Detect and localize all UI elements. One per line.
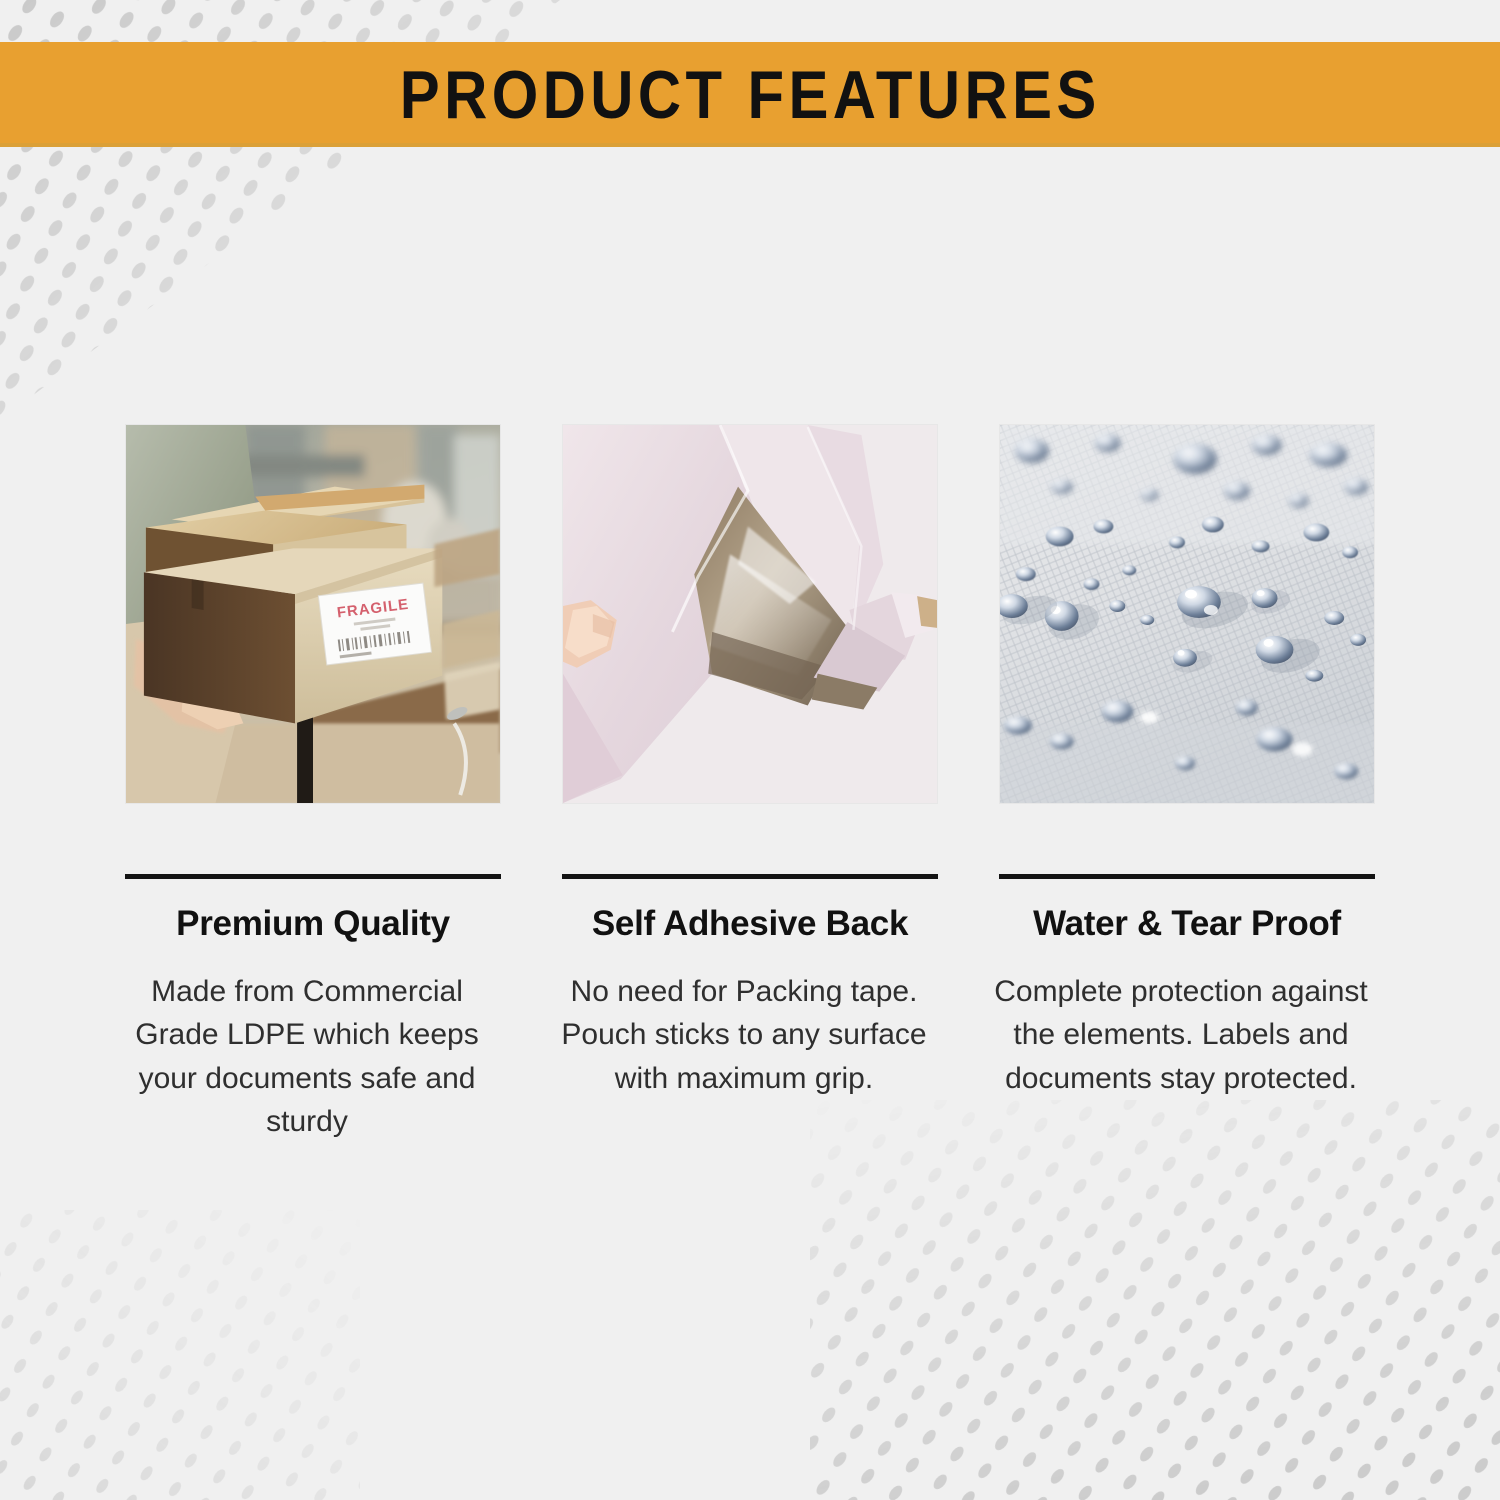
page-title: PRODUCT FEATURES xyxy=(400,61,1101,129)
feature-card-premium-quality: FRAGILE xyxy=(125,424,501,1144)
feature-title: Premium Quality xyxy=(176,905,450,944)
header-banner: PRODUCT FEATURES xyxy=(0,42,1500,147)
feature-card-water-tear-proof: Water & Tear Proof Complete protection a… xyxy=(999,424,1375,1144)
halftone-dots-decoration-bottom-right xyxy=(810,1100,1500,1500)
halftone-dots-decoration-bottom-left xyxy=(0,1210,360,1500)
feature-divider xyxy=(562,874,938,879)
feature-image-adhesive-peel xyxy=(562,424,938,804)
feature-title: Self Adhesive Back xyxy=(592,905,908,944)
feature-description: No need for Packing tape. Pouch sticks t… xyxy=(544,970,944,1101)
feature-columns: FRAGILE xyxy=(125,424,1375,1144)
product-features-infographic: PRODUCT FEATURES xyxy=(0,0,1500,1500)
feature-image-water-droplets xyxy=(999,424,1375,804)
feature-card-self-adhesive-back: Self Adhesive Back No need for Packing t… xyxy=(562,424,938,1144)
feature-description: Made from Commercial Grade LDPE which ke… xyxy=(107,970,507,1144)
feature-description: Complete protection against the elements… xyxy=(981,970,1381,1101)
feature-image-boxes: FRAGILE xyxy=(125,424,501,804)
feature-divider xyxy=(999,874,1375,879)
feature-divider xyxy=(125,874,501,879)
feature-title: Water & Tear Proof xyxy=(1033,905,1341,944)
